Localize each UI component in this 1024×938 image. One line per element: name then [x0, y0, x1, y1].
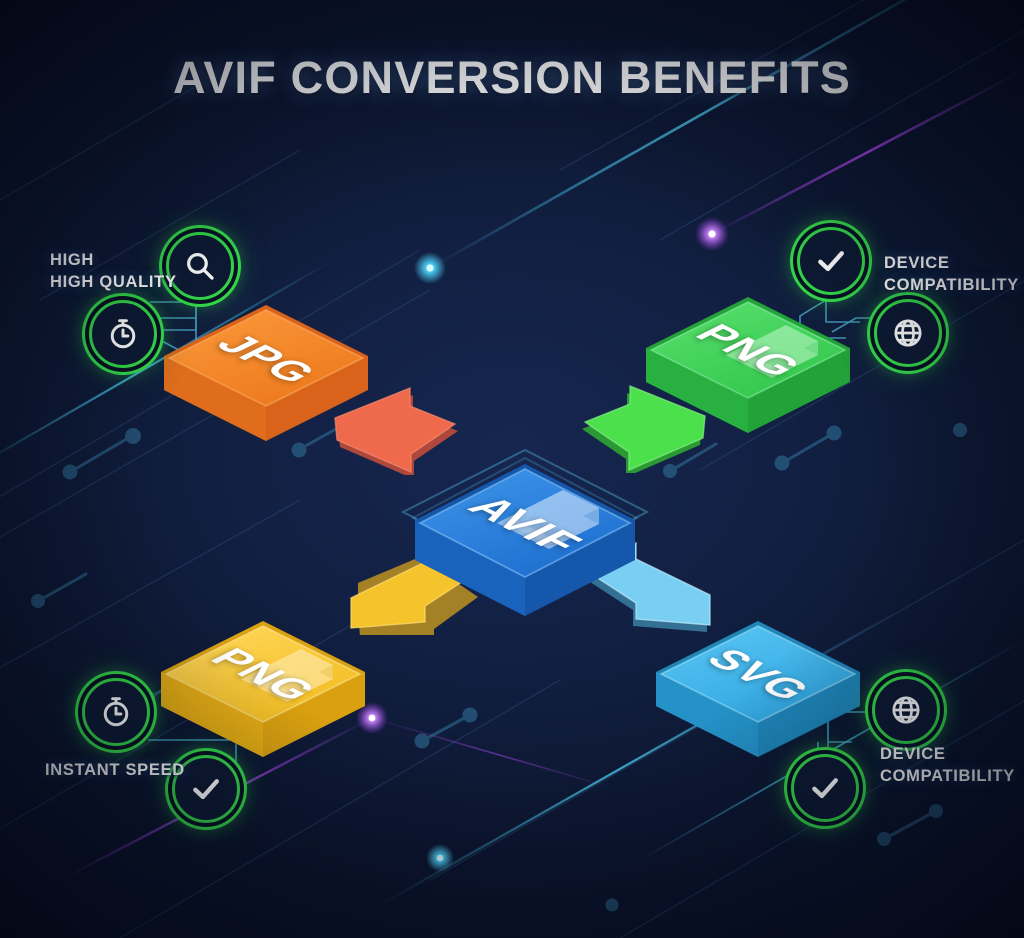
stopwatch-icon[interactable] [82, 678, 150, 746]
benefit-high-quality-line2: HIGH QUALITY [50, 272, 177, 294]
benefit-high-quality-line1: HIGH [50, 251, 94, 269]
check-icon[interactable] [797, 227, 865, 295]
format-card-svg[interactable]: SVG [643, 560, 873, 790]
benefit-label-high-quality: HIGH HIGH QUALITY [50, 250, 177, 294]
benefit-device-bottom-line2: COMPATIBILITY [880, 766, 1015, 788]
format-card-png-yellow[interactable]: PNG [148, 560, 378, 790]
globe-icon[interactable] [872, 676, 940, 744]
benefit-instant-speed-line1: INSTANT SPEED [45, 761, 185, 779]
stopwatch-icon[interactable] [89, 300, 157, 368]
format-card-avif[interactable]: AVIF [400, 400, 650, 650]
page-title: AVIF CONVERSION BENEFITS [0, 52, 1024, 104]
benefit-device-bottom-line1: DEVICE [880, 745, 946, 763]
benefit-device-top-line2: COMPATIBILITY [884, 275, 1019, 297]
benefit-label-device-compatibility-top: DEVICE COMPATIBILITY [884, 253, 1019, 297]
benefit-label-device-compatibility-bottom: DEVICE COMPATIBILITY [880, 744, 1015, 788]
check-icon[interactable] [791, 754, 859, 822]
infographic-canvas: AVIF CONVERSION BENEFITS [0, 0, 1024, 938]
benefit-device-top-line1: DEVICE [884, 254, 950, 272]
benefit-label-instant-speed: INSTANT SPEED [45, 760, 185, 782]
globe-icon[interactable] [874, 299, 942, 367]
